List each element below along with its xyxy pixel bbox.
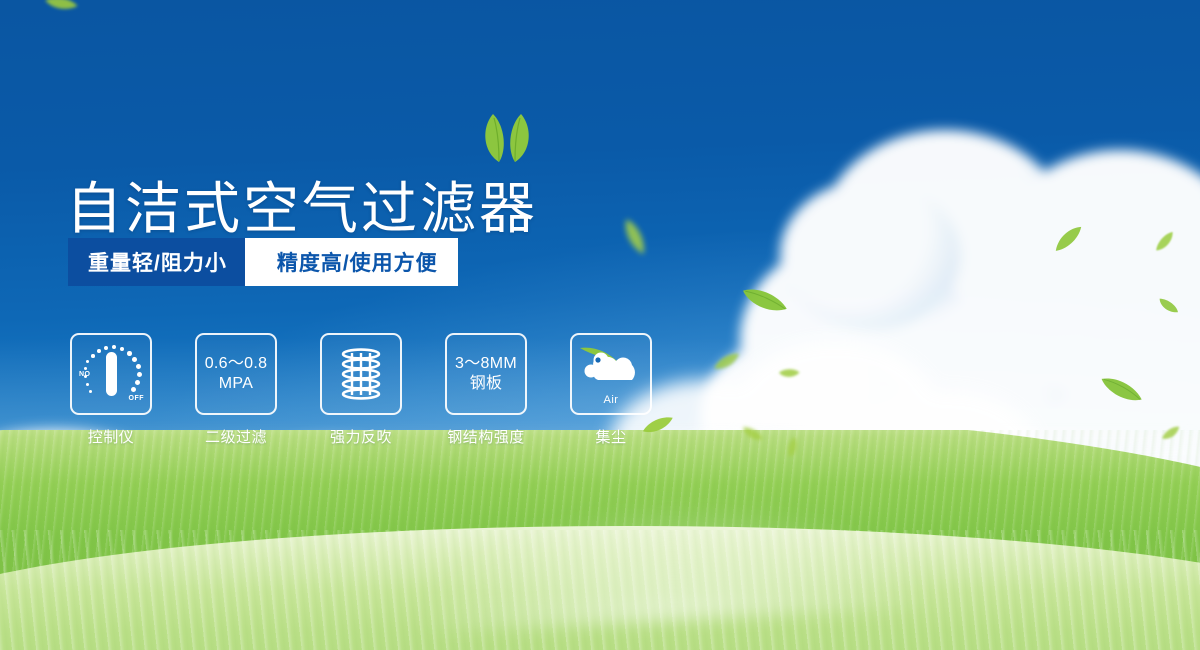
steel-material: 钢板 bbox=[455, 374, 517, 394]
gauge-dial-icon: NO OFF bbox=[70, 333, 152, 415]
subtitle-bar: 重量轻/阻力小 精度高/使用方便 bbox=[68, 238, 458, 286]
two-leaves-icon bbox=[472, 112, 542, 164]
gauge-label-off: OFF bbox=[129, 395, 145, 402]
feature-label-dust-collection: 集尘 bbox=[570, 426, 652, 447]
filter-stack-icon bbox=[320, 333, 402, 415]
pressure-unit: MPA bbox=[205, 374, 268, 394]
feature-item-controller[interactable]: NO OFF 控制仪 bbox=[70, 333, 152, 447]
feature-label-strong-backblow: 强力反吹 bbox=[320, 426, 402, 447]
feature-list: NO OFF 控制仪 0.6～0.8 MPA 二级过滤 bbox=[70, 333, 652, 447]
feature-label-two-stage-filter: 二级过滤 bbox=[195, 426, 277, 447]
feature-item-strong-backblow[interactable]: 强力反吹 bbox=[320, 333, 402, 447]
grass-field bbox=[0, 430, 1200, 650]
subtitle-slash-divider bbox=[245, 238, 271, 286]
product-banner: 自洁式空气过滤器 重量轻/阻力小 精度高/使用方便 bbox=[0, 0, 1200, 650]
air-caption: Air bbox=[572, 394, 650, 406]
gauge-needle-bar bbox=[106, 352, 117, 396]
cloud-air-icon: Air bbox=[570, 333, 652, 415]
subtitle-right: 精度高/使用方便 bbox=[271, 238, 458, 286]
feature-label-steel-strength: 钢结构强度 bbox=[445, 426, 527, 447]
pressure-text-icon: 0.6～0.8 MPA bbox=[195, 333, 277, 415]
pressure-value: 0.6～0.8 bbox=[205, 355, 268, 372]
feature-item-dust-collection[interactable]: Air 集尘 bbox=[570, 333, 652, 447]
subtitle-left: 重量轻/阻力小 bbox=[68, 238, 245, 286]
steel-thickness: 3～8MM bbox=[455, 355, 517, 372]
page-title: 自洁式空气过滤器 bbox=[66, 181, 538, 237]
steel-text-icon: 3～8MM 钢板 bbox=[445, 333, 527, 415]
feature-label-controller: 控制仪 bbox=[70, 426, 152, 447]
feature-item-steel-strength[interactable]: 3～8MM 钢板 钢结构强度 bbox=[445, 333, 527, 447]
feature-item-two-stage-filter[interactable]: 0.6～0.8 MPA 二级过滤 bbox=[195, 333, 277, 447]
gauge-label-no: NO bbox=[79, 371, 91, 378]
